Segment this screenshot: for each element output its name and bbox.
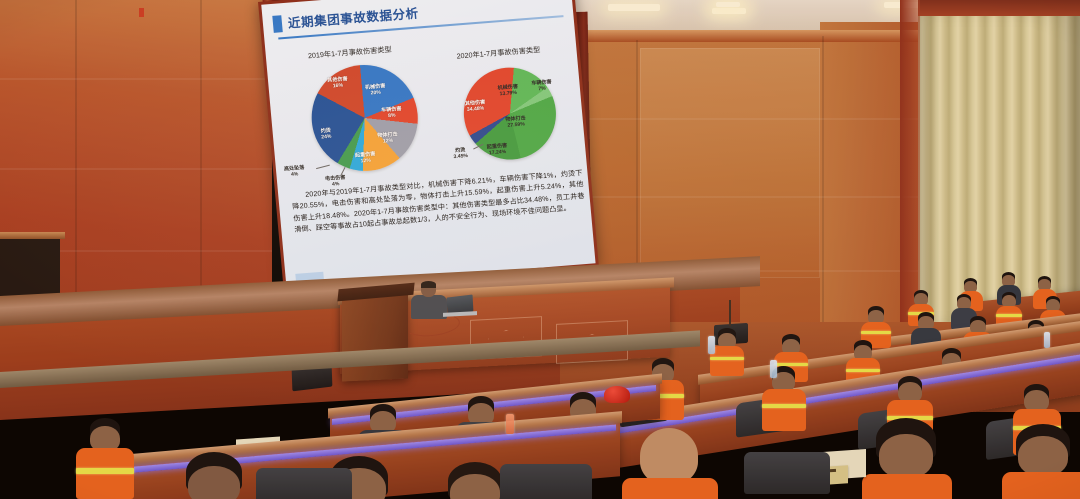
hivis-reflective-stripe: [76, 468, 134, 474]
safety-helmet-red: [604, 386, 630, 403]
wall-seam: [822, 36, 824, 326]
pie-slice-label-2019-jixie: 机械伤害20%: [365, 83, 386, 97]
person-head-bald: [640, 428, 698, 484]
alcove-frame: [0, 232, 65, 239]
person-head: [879, 434, 933, 478]
podium: [342, 291, 408, 382]
conference-hall-photo: 近期集团事故数据分析 2019年1-7月事故伤害类型 2020年1-7月事故伤害…: [0, 0, 1080, 499]
person-torso-hivis: [1002, 472, 1080, 499]
hivis-reflective-stripe: [710, 357, 744, 360]
person-torso-hivis: [710, 346, 744, 376]
water-bottle: [1044, 332, 1050, 348]
presenter-hair: [421, 281, 436, 288]
pie-slice-label-2020-cheliang: 车辆伤害7%: [531, 79, 552, 93]
chart-title-2019: 2019年1-7月事故伤害类型: [308, 45, 393, 62]
audience-chair: [744, 452, 830, 494]
ceiling-light: [608, 4, 660, 11]
pie-leader-line: [316, 165, 330, 169]
pie-slice-label-2020-jixie: 机械伤害13.79%: [497, 84, 518, 98]
pie-slice-label-2020-qizhong: 起重伤害17.24%: [487, 143, 508, 157]
ceiling-light: [712, 8, 746, 14]
person-torso-hivis: [762, 389, 806, 431]
wall-back-inset-panel: [640, 48, 820, 278]
wall-strip-right-of-curtain: [900, 0, 920, 336]
water-bottle: [506, 414, 514, 434]
slide-accent-bar: [272, 15, 282, 33]
pie-slice-label-2020-wuti: 物体打击27.59%: [505, 115, 526, 129]
hivis-reflective-stripe: [762, 404, 806, 408]
pie-slice-label-2019-qita: 其他伤害16%: [327, 76, 348, 90]
pie-slice-label-2019-qizhong: 起重伤害12%: [355, 151, 376, 165]
wall-seam: [0, 168, 272, 170]
audience-chair: [500, 464, 592, 499]
curtain-valance-beige: [918, 0, 1080, 16]
person-torso-hivis: [862, 474, 952, 499]
ceiling-light: [716, 2, 740, 7]
wall-marker: [139, 8, 144, 17]
hivis-reflective-stripe: [996, 314, 1022, 317]
chart-title-2020: 2020年1-7月事故伤害类型: [456, 45, 541, 62]
projection-screen: 近期集团事故数据分析 2019年1-7月事故伤害类型 2020年1-7月事故伤害…: [258, 0, 599, 291]
pie-slice-label-2019-cheliang: 车辆伤害8%: [381, 106, 402, 120]
wall-seam: [0, 78, 272, 80]
person-head: [188, 466, 240, 499]
wall-seam: [75, 0, 77, 320]
pie-slice-label-2019-zhuotang: 灼烫24%: [320, 128, 331, 141]
audience-chair: [256, 468, 352, 499]
presentation-slide: 近期集团事故数据分析 2019年1-7月事故伤害类型 2020年1-7月事故伤害…: [261, 0, 595, 288]
person-head: [1018, 436, 1068, 476]
microphone-stand: [729, 300, 731, 326]
pie-slice-label-2020-zhuotang: 灼烫3.45%: [453, 147, 469, 161]
wall-seam: [200, 0, 202, 310]
hivis-reflective-stripe: [861, 331, 891, 334]
water-bottle: [770, 360, 777, 378]
pie-slice-label-2019-wuti: 物体打击12%: [377, 131, 398, 145]
pie-slice-label-2020-qita: 其他伤害34.48%: [465, 99, 486, 113]
water-bottle: [708, 336, 715, 354]
person-torso-hivis: [622, 478, 718, 499]
pie-slice-label-2019-gaochu: 高处坠落4%: [284, 165, 305, 179]
hivis-reflective-stripe: [846, 369, 880, 372]
